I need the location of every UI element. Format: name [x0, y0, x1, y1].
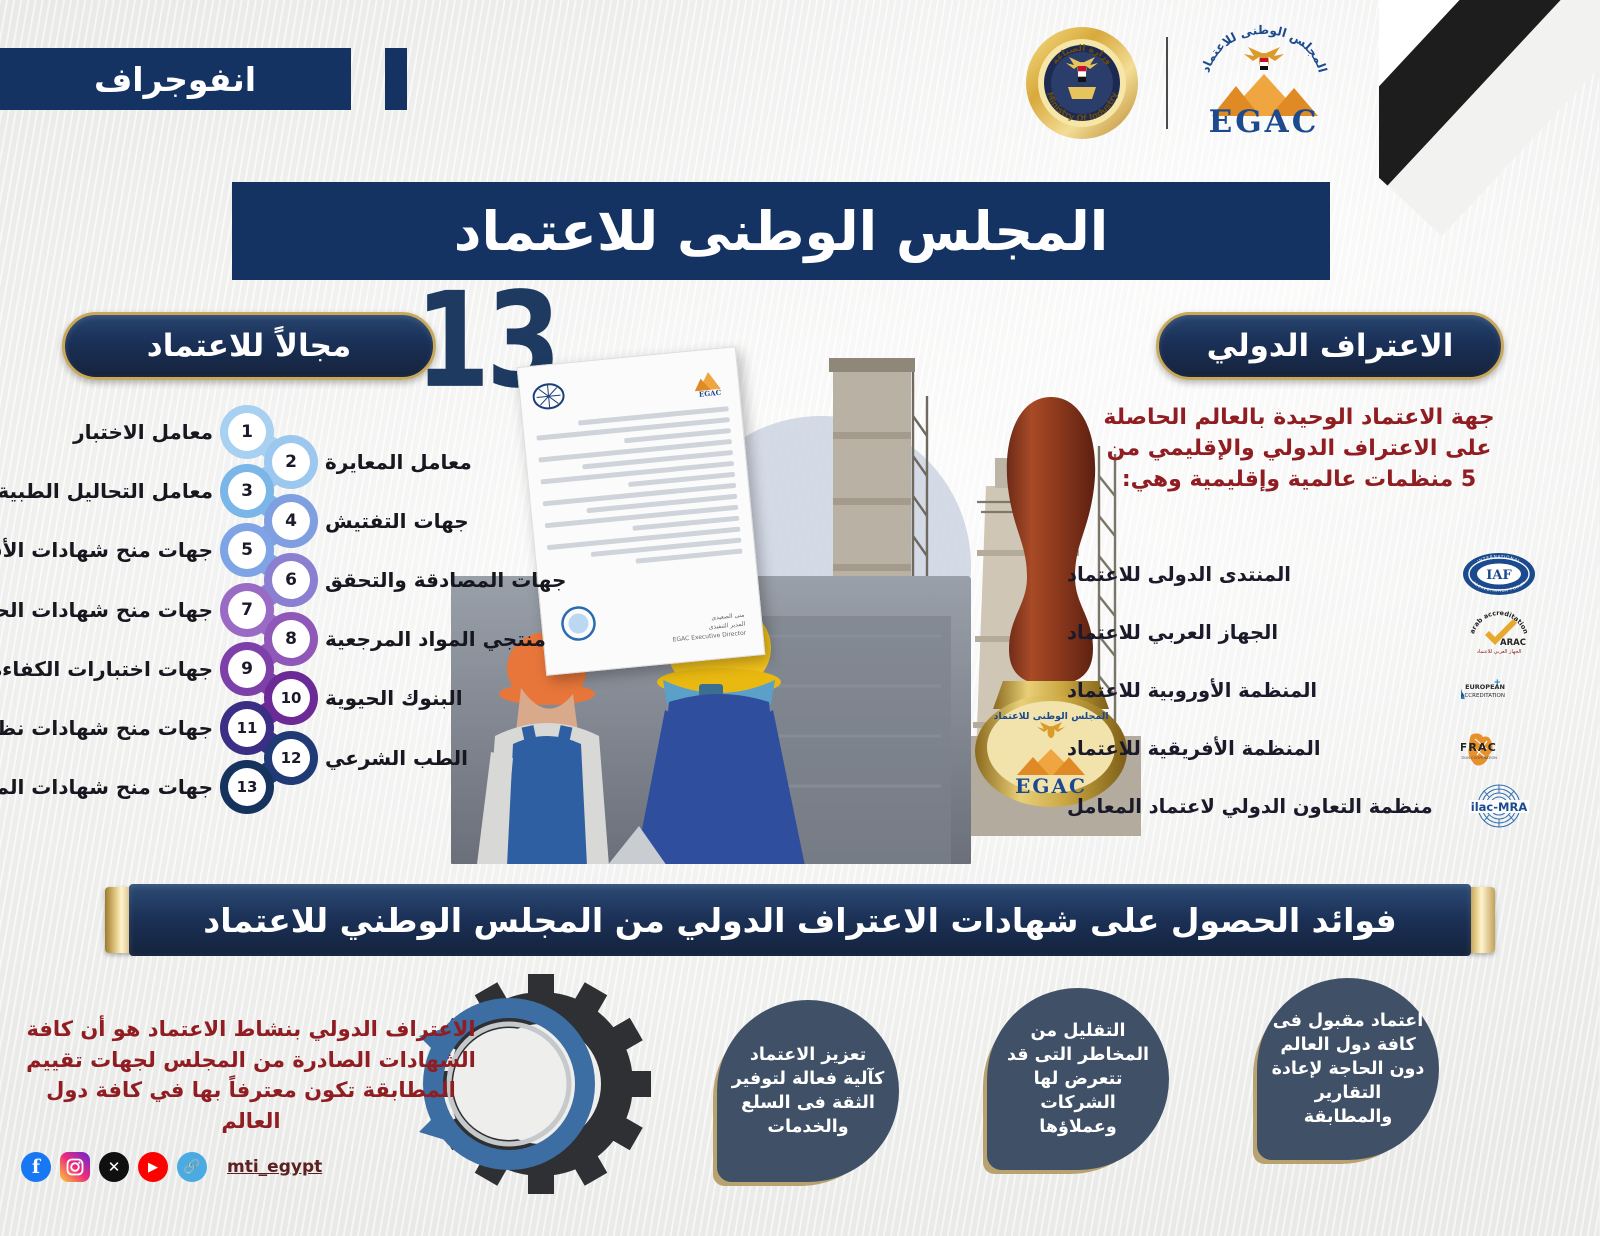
- chain-node-3: 3: [229, 472, 267, 510]
- international-organizations-list: IAF INTERNATIONAL ACCREDITATION FORUM ال…: [1068, 548, 1538, 838]
- chain-node-7: 7: [229, 591, 267, 629]
- chain-node-8: 8: [273, 620, 311, 658]
- svg-text:ACCREDITATION: ACCREDITATION: [1462, 693, 1506, 699]
- org-label: المنظمة الأفريقية للاعتماد: [1068, 737, 1448, 760]
- page-title-text: المجلس الوطنى للاعتماد: [455, 200, 1109, 263]
- logo-divider: [1167, 37, 1169, 129]
- field-label-9: جهات اختبارات الكفاءة الفنية: [0, 659, 214, 679]
- facebook-icon[interactable]: f: [22, 1152, 52, 1182]
- benefit-text: التقليل من المخاطر التى قد تتعرض لها الش…: [1002, 1019, 1156, 1140]
- page-title: المجلس الوطنى للاعتماد: [233, 182, 1331, 280]
- svg-text:IAF: IAF: [1487, 568, 1513, 583]
- benefit-circle-2: التقليل من المخاطر التى قد تتعرض لها الش…: [988, 988, 1170, 1170]
- svg-text:AFRAC: AFRAC: [1462, 741, 1498, 754]
- field-label-13: جهات منح شهادات المنتجات: [0, 777, 214, 797]
- fields-heading-label: مجالاً للاعتماد: [148, 328, 352, 364]
- ilac-mra-logo-icon: ilac-MRA: [1462, 783, 1538, 829]
- arac-logo: arab accreditation ARAC الجهاز العربي لل…: [1462, 609, 1538, 655]
- org-label: المنتدى الدولى للاعتماد: [1068, 563, 1448, 586]
- egypt-flag-corner: [1380, 0, 1600, 240]
- egac-logo: المجلس الوطنى للاعتماد EGAC: [1195, 24, 1335, 142]
- ministry-of-industry-logo: وزارة الصناعة Ministry Of Industry: [1025, 25, 1141, 141]
- egypt-flag-graphic: [1380, 0, 1600, 240]
- org-label: الجهاز العربي للاعتماد: [1068, 621, 1448, 644]
- ea-logo-icon: EA + EUROPEAN ACCREDITATION: [1462, 667, 1538, 713]
- field-label-2: معامل المعايرة: [326, 452, 473, 472]
- org-row-afrac: AFRAC AFRICAN ACCREDITATION COOPERATION …: [1068, 722, 1538, 774]
- ministry-logo-graphic: وزارة الصناعة Ministry Of Industry: [1025, 25, 1141, 141]
- fields-section-heading: مجالاً للاعتماد: [63, 312, 437, 380]
- svg-text:EGAC: EGAC: [699, 388, 723, 399]
- footer-note: الاعتراف الدولي بنشاط الاعتماد هو أن كاف…: [22, 1014, 482, 1137]
- infographic-canvas: انفوجراف المجلس الوطنى للاعتماد: [0, 0, 1600, 1236]
- infograph-tag: انفوجراف: [0, 48, 352, 110]
- svg-text:الجهاز العربي للاعتماد: الجهاز العربي للاعتماد: [1478, 649, 1523, 655]
- svg-text:AFRICAN ACCREDITATION COOPERAT: AFRICAN ACCREDITATION COOPERATION: [1462, 756, 1498, 760]
- international-section-heading: الاعتراف الدولي: [1157, 312, 1505, 380]
- org-row-ilac-mra: ilac-MRA منظمة التعاون الدولي لاعتماد ال…: [1068, 780, 1538, 832]
- arac-logo-icon: arab accreditation ARAC الجهاز العربي لل…: [1462, 609, 1538, 655]
- field-label-5: جهات منح شهادات الأفراد: [0, 540, 214, 560]
- field-label-6: جهات المصادقة والتحقق: [326, 570, 567, 590]
- ilac-mra-logo: ilac-MRA: [1462, 783, 1538, 829]
- header-logos: المجلس الوطنى للاعتماد EGAC: [1025, 18, 1335, 148]
- youtube-icon[interactable]: ▶: [139, 1152, 169, 1182]
- field-label-12: الطب الشرعي: [326, 748, 469, 768]
- field-label-8: منتجي المواد المرجعية: [326, 629, 547, 649]
- benefits-ribbon-banner: فوائد الحصول على شهادات الاعتراف الدولي …: [106, 884, 1496, 956]
- svg-text:EA: EA: [1462, 677, 1466, 705]
- svg-text:ilac-MRA: ilac-MRA: [1472, 800, 1529, 814]
- chain-node-6: 6: [273, 561, 311, 599]
- iaf-logo-icon: IAF INTERNATIONAL ACCREDITATION FORUM: [1462, 551, 1538, 597]
- chain-node-12: 12: [273, 739, 311, 777]
- field-label-7: جهات منح شهادات الحلال: [0, 600, 214, 620]
- benefit-circle-1: اعتماد مقبول فى كافة دول العالم دون الحا…: [1258, 978, 1440, 1160]
- infograph-tag-accent-bar: [386, 48, 408, 110]
- accreditation-seal-icon: [532, 379, 567, 414]
- afrac-logo-icon: AFRAC AFRICAN ACCREDITATION COOPERATION: [1462, 725, 1538, 771]
- link-icon[interactable]: 🔗: [178, 1152, 208, 1182]
- chain-node-2: 2: [273, 443, 311, 481]
- field-label-11: جهات منح شهادات نظم الإدارة: [0, 718, 214, 738]
- field-label-4: جهات التفتيش: [326, 511, 470, 531]
- iaf-logo: IAF INTERNATIONAL ACCREDITATION FORUM: [1462, 551, 1538, 597]
- social-handle[interactable]: mti_egypt: [228, 1157, 323, 1177]
- egac-seal-icon: EGAC: [691, 362, 728, 399]
- ribbon-body: فوائد الحصول على شهادات الاعتراف الدولي …: [130, 884, 1472, 956]
- infograph-tag-label: انفوجراف: [95, 60, 257, 99]
- org-row-ea: EA + EUROPEAN ACCREDITATION المنظمة الأو…: [1068, 664, 1538, 716]
- international-heading-label: الاعتراف الدولي: [1208, 328, 1455, 364]
- org-row-arac: arab accreditation ARAC الجهاز العربي لل…: [1068, 606, 1538, 658]
- chain-node-1: 1: [229, 413, 267, 451]
- chain-node-13: 13: [229, 768, 267, 806]
- svg-text:ARAC: ARAC: [1501, 638, 1527, 648]
- certificate-signature: منى الصعيدىالمدير التنفيذىEGAC Executive…: [672, 611, 748, 645]
- benefit-text: اعتماد مقبول فى كافة دول العالم دون الحا…: [1272, 1009, 1426, 1130]
- afrac-logo: AFRAC AFRICAN ACCREDITATION COOPERATION: [1462, 725, 1538, 771]
- egac-logo-wordmark: EGAC: [1195, 104, 1335, 140]
- accreditation-fields-chain: 1معامل الاختبار2معامل المعايرة3معامل الت…: [0, 410, 560, 810]
- org-label: منظمة التعاون الدولي لاعتماد المعامل: [1068, 795, 1448, 818]
- org-label: المنظمة الأوروبية للاعتماد: [1068, 679, 1448, 702]
- international-description: جهة الاعتماد الوحيدة بالعالم الحاصلة على…: [1100, 402, 1500, 496]
- x-twitter-icon[interactable]: ✕: [100, 1152, 130, 1182]
- instagram-icon[interactable]: [61, 1152, 91, 1182]
- certificate-blue-seal-icon: [558, 602, 602, 646]
- svg-text:arab accreditation: arab accreditation: [1469, 609, 1531, 635]
- instagram-glyph: [67, 1158, 85, 1176]
- chain-node-9: 9: [229, 650, 267, 688]
- benefit-circle-3: تعزيز الاعتماد كآلية فعالة لتوفير الثقة …: [718, 1000, 900, 1182]
- field-label-3: معامل التحاليل الطبية: [0, 481, 214, 501]
- benefits-ribbon-title: فوائد الحصول على شهادات الاعتراف الدولي …: [204, 901, 1397, 940]
- social-links: f ✕ ▶ 🔗 mti_egypt: [22, 1152, 323, 1182]
- benefit-text: تعزيز الاعتماد كآلية فعالة لتوفير الثقة …: [732, 1043, 886, 1140]
- certificate-header: EGAC: [532, 362, 728, 414]
- field-label-1: معامل الاختبار: [74, 422, 214, 442]
- org-row-iaf: IAF INTERNATIONAL ACCREDITATION FORUM ال…: [1068, 548, 1538, 600]
- chain-node-11: 11: [229, 709, 267, 747]
- ea-logo: EA + EUROPEAN ACCREDITATION: [1462, 667, 1538, 713]
- chain-node-4: 4: [273, 502, 311, 540]
- field-label-10: البنوك الحيوية: [326, 688, 464, 708]
- svg-text:EUROPEAN: EUROPEAN: [1466, 683, 1506, 691]
